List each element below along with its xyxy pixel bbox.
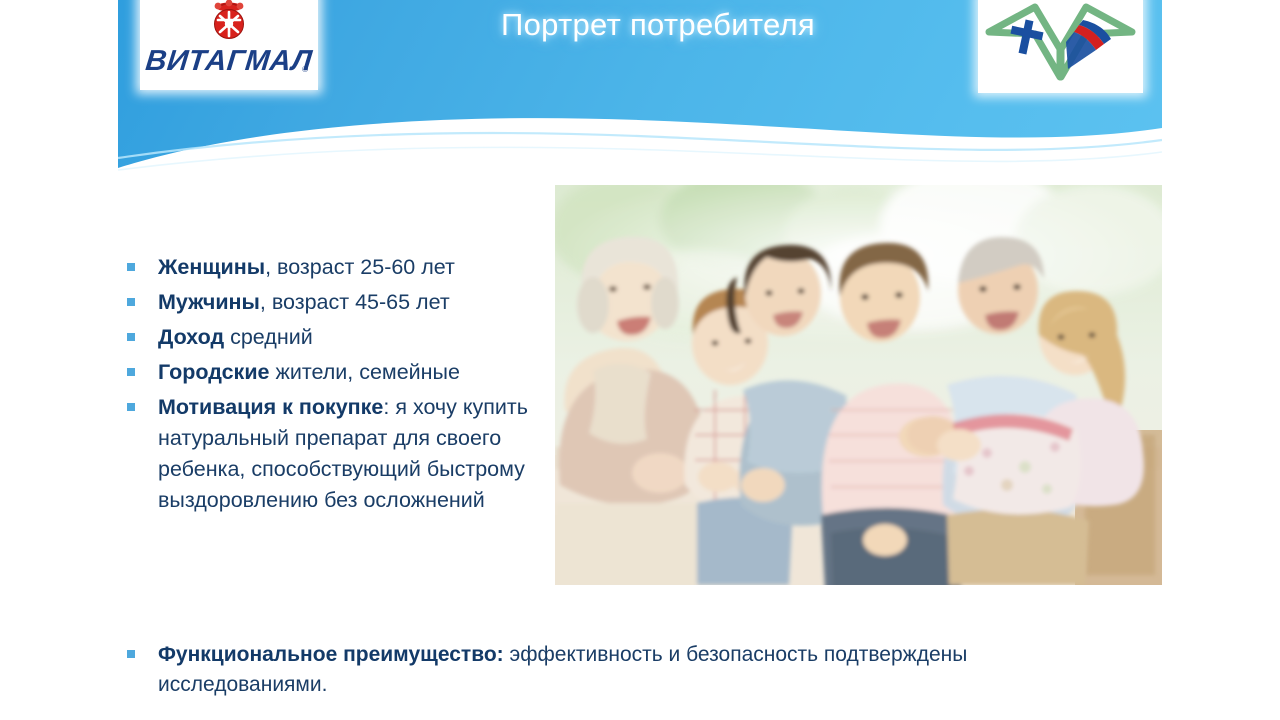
bullet-square-icon	[127, 298, 135, 306]
list-item-text: жители, семейные	[270, 360, 460, 384]
functional-advantage-bullet: Функциональное преимущество: эффективнос…	[118, 640, 1118, 700]
list-item: Городские жители, семейные	[118, 357, 566, 388]
bullet-square-icon	[127, 650, 135, 658]
bottom-bullet-bold: Функциональное преимущество:	[158, 643, 504, 666]
slide-header-banner: ВИТАГМАЛ ®	[118, 0, 1162, 185]
page-title: Портрет потребителя	[378, 4, 938, 48]
list-item: Мотивация к покупке: я хочу купить натур…	[118, 392, 566, 516]
list-item-bold: Мотивация к покупке	[158, 395, 383, 419]
berry-emblem-icon	[215, 0, 244, 39]
finland-russia-book-logo	[978, 0, 1143, 93]
list-item-text: , возраст 45-65 лет	[260, 290, 450, 314]
svg-text:®: ®	[302, 65, 308, 74]
vitagmal-logo: ВИТАГМАЛ ®	[140, 0, 318, 90]
bullet-square-icon	[127, 403, 135, 411]
list-item: Мужчины, возраст 45-65 лет	[118, 287, 566, 318]
list-item: Женщины, возраст 25-60 лет	[118, 252, 566, 283]
list-item: Доход средний	[118, 322, 566, 353]
svg-text:ВИТАГМАЛ: ВИТАГМАЛ	[144, 45, 314, 77]
list-item-text: , возраст 25-60 лет	[265, 255, 455, 279]
bullet-square-icon	[127, 333, 135, 341]
list-item-text: средний	[224, 325, 313, 349]
slide: ВИТАГМАЛ ®	[118, 0, 1162, 720]
consumer-profile-bullet-list: Женщины, возраст 25-60 лет Мужчины, возр…	[118, 252, 566, 520]
list-item-bold: Мужчины	[158, 290, 260, 314]
list-item-bold: Городские	[158, 360, 270, 384]
bullet-square-icon	[127, 263, 135, 271]
bullet-square-icon	[127, 368, 135, 376]
list-item-bold: Женщины	[158, 255, 265, 279]
list-item-bold: Доход	[158, 325, 224, 349]
family-on-couch-photo	[555, 185, 1162, 585]
